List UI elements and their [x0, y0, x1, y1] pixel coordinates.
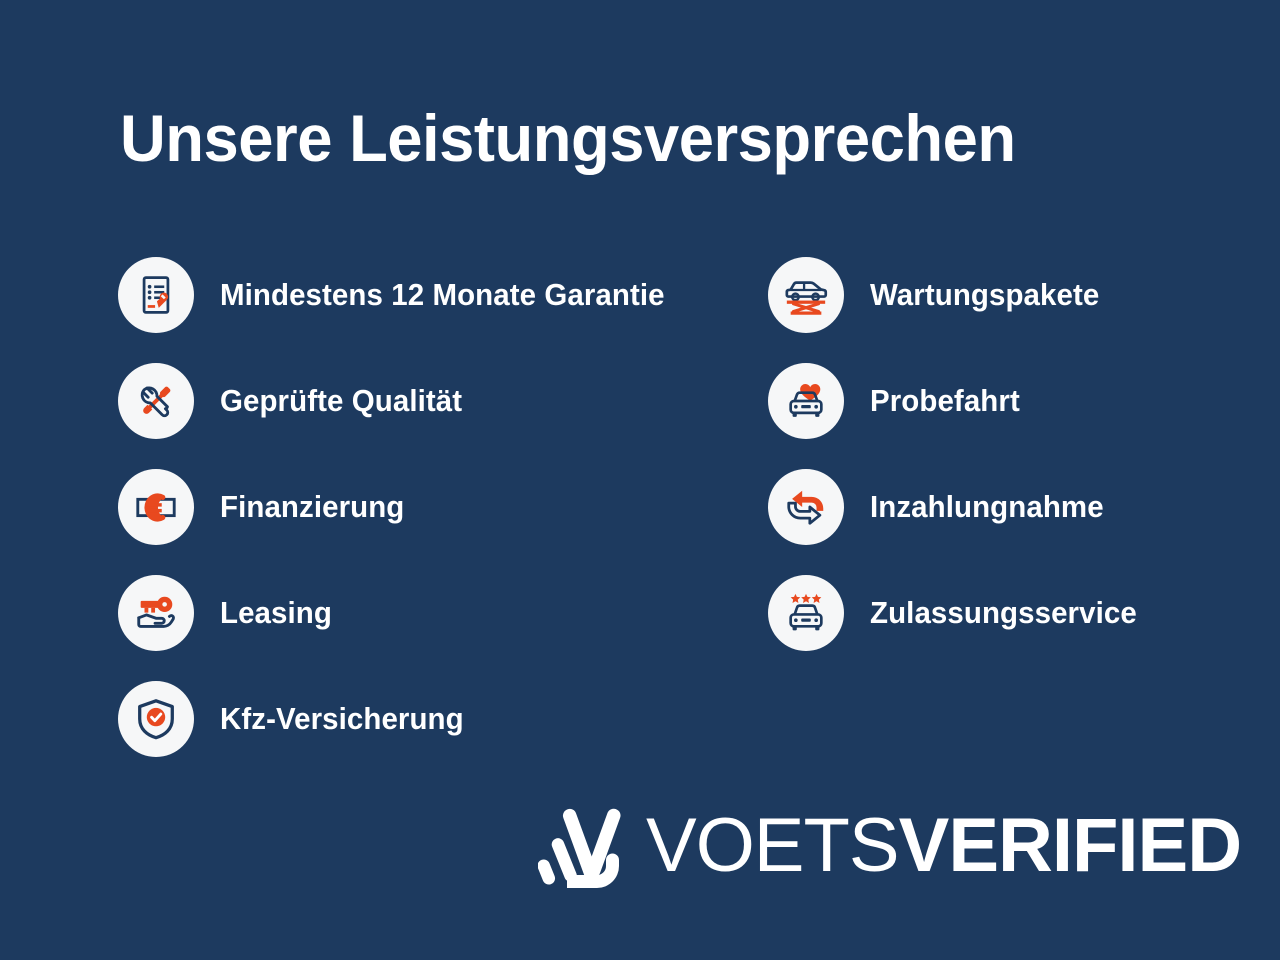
feature-column-right: Wartungspakete [768, 250, 1268, 674]
feature-icon-badge [768, 575, 844, 651]
feature-column-left: Mindestens 12 Monate Garantie [118, 250, 758, 780]
exchange-arrows-icon [783, 484, 829, 530]
feature-item: Mindestens 12 Monate Garantie [118, 250, 758, 340]
feature-label: Wartungspakete [870, 277, 1099, 313]
feature-icon-badge [768, 257, 844, 333]
feature-item: Kfz-Versicherung [118, 674, 758, 764]
feature-item: Zulassungsservice [768, 568, 1268, 658]
wrench-screwdriver-icon [133, 378, 179, 424]
car-three-stars-icon [783, 590, 829, 636]
feature-label: Geprüfte Qualität [220, 383, 462, 419]
euro-banknote-icon [133, 484, 179, 530]
key-in-hand-icon [133, 590, 179, 636]
shield-check-icon [133, 696, 179, 742]
feature-label: Finanzierung [220, 489, 404, 525]
feature-label: Kfz-Versicherung [220, 701, 464, 737]
feature-label: Zulassungsservice [870, 595, 1137, 631]
feature-icon-badge [118, 681, 194, 757]
feature-item: Finanzierung [118, 462, 758, 552]
page-title: Unsere Leistungsversprechen [120, 104, 1016, 173]
feature-label: Probefahrt [870, 383, 1020, 419]
document-wrench-icon [134, 273, 178, 317]
feature-item: Wartungspakete [768, 250, 1268, 340]
feature-item: Probefahrt [768, 356, 1268, 446]
logo-word-voets: VOETS [646, 808, 899, 884]
feature-label: Leasing [220, 595, 332, 631]
feature-icon-badge [118, 575, 194, 651]
feature-label: Inzahlungnahme [870, 489, 1104, 525]
voets-verified-logo: VOETSVERIFIED [538, 798, 1241, 894]
logo-wordmark: VOETSVERIFIED [646, 808, 1241, 884]
promo-poster: Unsere Leistungsversprechen [0, 0, 1280, 960]
feature-item: Leasing [118, 568, 758, 658]
feature-item: Inzahlungnahme [768, 462, 1268, 552]
logo-word-verified: VERIFIED [899, 808, 1242, 884]
voets-v-mark-icon [538, 801, 622, 891]
feature-icon-badge [768, 469, 844, 545]
car-heart-icon [783, 378, 829, 424]
car-on-lift-icon [783, 272, 829, 318]
feature-label: Mindestens 12 Monate Garantie [220, 277, 665, 313]
feature-icon-badge [118, 363, 194, 439]
feature-icon-badge [118, 469, 194, 545]
feature-item: Geprüfte Qualität [118, 356, 758, 446]
feature-icon-badge [768, 363, 844, 439]
feature-icon-badge [118, 257, 194, 333]
